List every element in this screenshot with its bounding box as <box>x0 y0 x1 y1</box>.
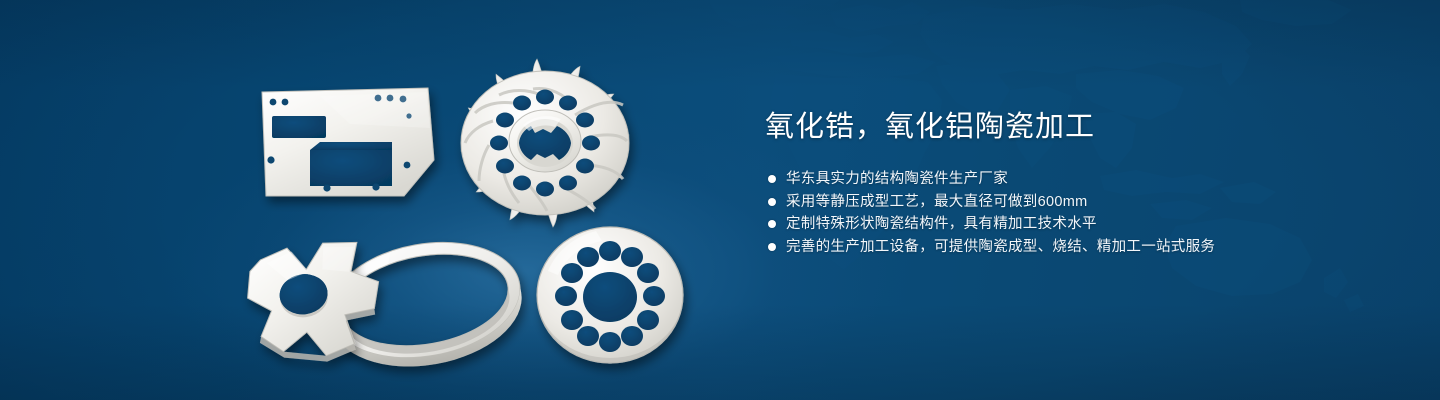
feature-item-label: 华东具实力的结构陶瓷件生产厂家 <box>786 168 1008 191</box>
feature-item: 采用等静压成型工艺，最大直径可做到600mm <box>765 191 1405 214</box>
bullet-dot-icon <box>768 220 776 228</box>
feature-item-label: 定制特殊形状陶瓷结构件，具有精加工技术水平 <box>786 213 1097 236</box>
feature-item: 完善的生产加工设备，可提供陶瓷成型、烧结、精加工一站式服务 <box>765 236 1405 259</box>
banner-copy: 氧化锆，氧化铝陶瓷加工 华东具实力的结构陶瓷件生产厂家 采用等静压成型工艺，最大… <box>765 108 1405 258</box>
banner-headline: 氧化锆，氧化铝陶瓷加工 <box>765 108 1405 146</box>
feature-list: 华东具实力的结构陶瓷件生产厂家 采用等静压成型工艺，最大直径可做到600mm 定… <box>765 168 1405 258</box>
feature-item-label: 采用等静压成型工艺，最大直径可做到600mm <box>786 191 1087 214</box>
feature-item: 华东具实力的结构陶瓷件生产厂家 <box>765 168 1405 191</box>
promo-banner: 氧化锆，氧化铝陶瓷加工 华东具实力的结构陶瓷件生产厂家 采用等静压成型工艺，最大… <box>0 0 1440 400</box>
bullet-dot-icon <box>768 243 776 251</box>
feature-item-label: 完善的生产加工设备，可提供陶瓷成型、烧结、精加工一站式服务 <box>786 236 1215 259</box>
bullet-dot-icon <box>768 198 776 206</box>
feature-item: 定制特殊形状陶瓷结构件，具有精加工技术水平 <box>765 213 1405 236</box>
bullet-dot-icon <box>768 175 776 183</box>
